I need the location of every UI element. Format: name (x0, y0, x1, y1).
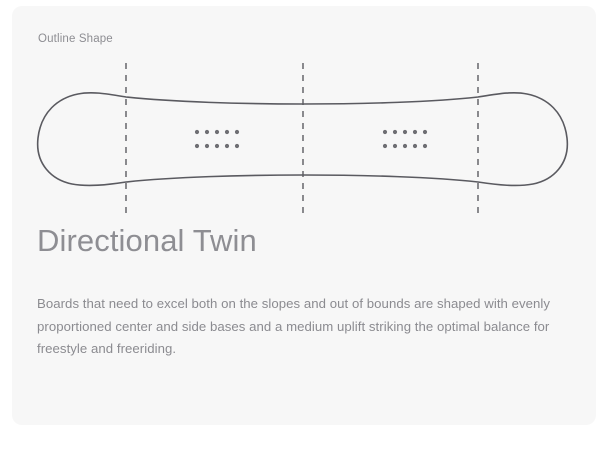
snowboard-diagram (12, 50, 596, 230)
insert-group-tail (383, 130, 427, 148)
snowboard-outline-svg (12, 50, 596, 230)
shape-description: Boards that need to excel both on the sl… (37, 293, 577, 361)
insert-group-nose (195, 130, 239, 148)
shape-title: Directional Twin (37, 221, 257, 261)
card-label: Outline Shape (38, 32, 113, 46)
guide-lines (126, 63, 478, 216)
outline-shape-card: Outline Shape (12, 6, 596, 425)
